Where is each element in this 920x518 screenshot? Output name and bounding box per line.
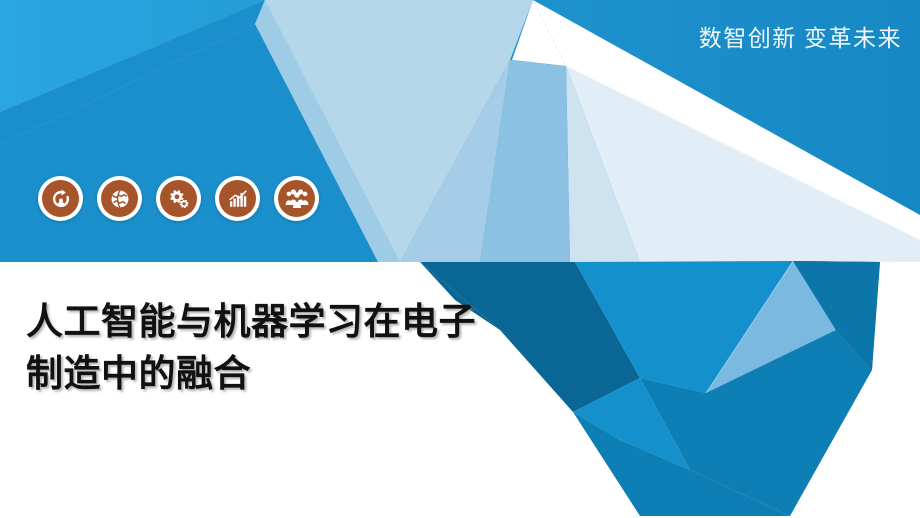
icon-row: [38, 176, 319, 221]
title-line-1: 人工智能与机器学习在电子: [26, 296, 546, 348]
icon-badge-people[interactable]: [274, 176, 319, 221]
bar-chart-icon: [219, 180, 256, 217]
background-artwork: [0, 0, 920, 518]
gears-icon: [160, 180, 197, 217]
icon-badge-refresh[interactable]: [38, 176, 83, 221]
globe-icon: [101, 180, 138, 217]
title-line-2: 制造中的融合: [26, 348, 546, 400]
page-title: 人工智能与机器学习在电子 制造中的融合: [26, 296, 546, 400]
slide-root: 数智创新 变革未来: [0, 0, 920, 518]
icon-badge-gears[interactable]: [156, 176, 201, 221]
tagline-text: 数智创新 变革未来: [699, 27, 902, 50]
icon-badge-globe[interactable]: [97, 176, 142, 221]
refresh-arrow-icon: [42, 180, 79, 217]
icon-badge-chart[interactable]: [215, 176, 260, 221]
people-group-icon: [278, 180, 315, 217]
